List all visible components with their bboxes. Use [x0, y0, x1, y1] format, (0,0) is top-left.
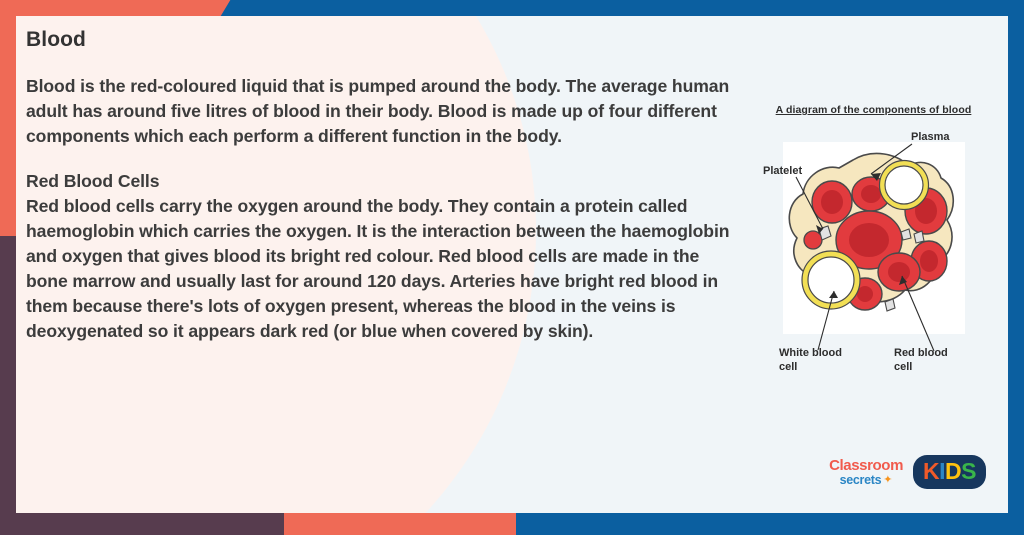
star-icon: ✦: [883, 475, 892, 486]
blood-diagram: A diagram of the components of blood: [761, 104, 986, 408]
intro-paragraph: Blood is the red-coloured liquid that is…: [26, 74, 742, 149]
classroom-secrets-word-secrets: secrets: [840, 474, 882, 487]
label-red-blood-cell: Red blood: [894, 347, 948, 359]
kids-letter-k: K: [923, 460, 939, 483]
classroom-secrets-logo: Classroom secrets ✦: [829, 458, 903, 487]
label-plasma: Plasma: [911, 131, 950, 143]
kids-letter-s: S: [961, 460, 976, 483]
content-card: Blood Blood is the red-coloured liquid t…: [16, 16, 1008, 513]
kids-badge-logo: K I D S: [913, 455, 986, 489]
section-subheading: Red Blood Cells: [26, 169, 742, 194]
text-column: Blood Blood is the red-coloured liquid t…: [26, 28, 742, 344]
branding-logos: Classroom secrets ✦ K I D S: [829, 455, 986, 489]
label-white-blood-cell: White blood: [779, 347, 842, 359]
red-blood-cells-paragraph: Red blood cells carry the oxygen around …: [26, 194, 742, 344]
slide-root: Blood Blood is the red-coloured liquid t…: [0, 0, 1024, 535]
label-red-blood-cell-2: cell: [894, 361, 912, 373]
label-platelet: Platelet: [763, 165, 802, 177]
diagram-canvas: Plasma Platelet White blood cell Red blo…: [761, 128, 986, 408]
label-white-blood-cell-2: cell: [779, 361, 797, 373]
diagram-title: A diagram of the components of blood: [773, 104, 974, 118]
classroom-secrets-word-secrets-wrap: secrets ✦: [840, 474, 893, 487]
kids-letter-d: D: [945, 460, 961, 483]
page-title: Blood: [26, 28, 742, 52]
classroom-secrets-word-classroom: Classroom: [829, 458, 903, 473]
bottom-bar-coral: [284, 513, 516, 535]
bottom-bar-purple: [0, 513, 284, 535]
